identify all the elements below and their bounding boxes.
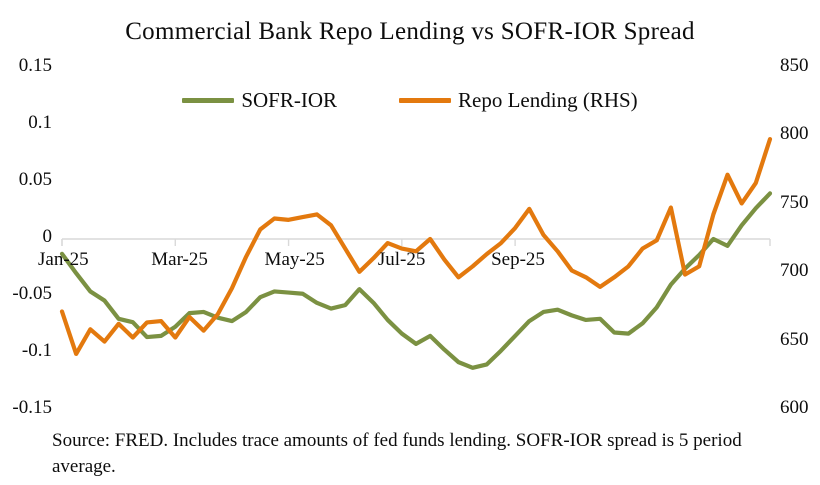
chart-container: Commercial Bank Repo Lending vs SOFR-IOR…: [0, 0, 820, 485]
y-axis-left-tick-label: 0.1: [0, 112, 52, 134]
y-axis-left-tick-label: -0.1: [0, 340, 52, 362]
y-axis-right-tick-label: 700: [780, 260, 809, 282]
y-axis-right-tick-label: 750: [780, 192, 809, 214]
chart-footnote: Source: FRED. Includes trace amounts of …: [52, 428, 792, 479]
footnote-line-1: Source: FRED. Includes trace amounts of …: [52, 430, 657, 451]
y-axis-left-tick-label: -0.05: [0, 283, 52, 305]
y-axis-right-tick-label: 650: [780, 329, 809, 351]
y-axis-right-tick-label: 850: [780, 55, 809, 77]
y-axis-right-tick-label: 600: [780, 397, 809, 419]
y-axis-left-tick-label: 0: [0, 226, 52, 248]
x-axis-tick-label: Sep-25: [491, 249, 545, 271]
plot-area: [0, 0, 820, 485]
y-axis-left-tick-label: 0.15: [0, 55, 52, 77]
x-axis-tick-label: May-25: [265, 249, 325, 271]
y-axis-left-tick-label: 0.05: [0, 169, 52, 191]
x-axis-tick-label: Jan-25: [38, 249, 89, 271]
x-axis-tick-label: Jul-25: [378, 249, 426, 271]
x-axis-tick-label: Mar-25: [151, 249, 208, 271]
y-axis-right-tick-label: 800: [780, 123, 809, 145]
y-axis-left-tick-label: -0.15: [0, 397, 52, 419]
series-line-repo-lending: [62, 139, 770, 354]
